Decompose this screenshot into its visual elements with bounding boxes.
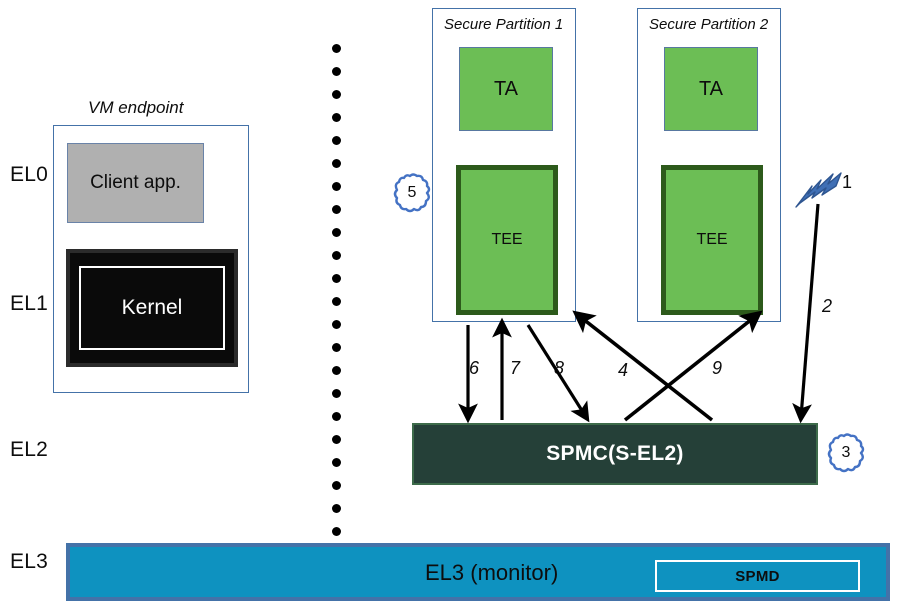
secure-partition-1-box: Secure Partition 1 TA TEE (432, 8, 576, 322)
arrow-label-8: 8 (554, 358, 564, 379)
divider-dot (332, 389, 341, 398)
divider-dot (332, 458, 341, 467)
secure-partition-1-title: Secure Partition 1 (444, 16, 563, 33)
divider-dot (332, 527, 341, 536)
callout-cloud-3-label: 3 (825, 432, 867, 474)
divider-dot (332, 343, 341, 352)
arrow-label-2: 2 (822, 296, 832, 317)
divider-dot (332, 320, 341, 329)
secure-partition-2-box: Secure Partition 2 TA TEE (637, 8, 781, 322)
spmc-label: SPMC(S-EL2) (546, 442, 683, 466)
callout-cloud-3: 3 (825, 432, 867, 474)
divider-dot (332, 274, 341, 283)
secure-partition-2-tee-label: TEE (696, 231, 727, 249)
divider-dot (332, 435, 341, 444)
divider-dot (332, 67, 341, 76)
secure-partition-2-ta-label: TA (699, 78, 723, 101)
arrow-label-7: 7 (510, 358, 520, 379)
secure-world-divider (332, 44, 341, 540)
vm-endpoint-box: Client app. Kernel (53, 125, 249, 393)
exception-level-label-el2: EL2 (10, 438, 48, 462)
arrow-label-6: 6 (469, 358, 479, 379)
divider-dot (332, 228, 341, 237)
kernel-inner-frame: Kernel (79, 266, 225, 350)
arrow-label-4: 4 (618, 360, 628, 381)
divider-dot (332, 159, 341, 168)
divider-dot (332, 182, 341, 191)
secure-partition-1-tee-label: TEE (491, 231, 522, 249)
callout-cloud-5: 5 (391, 172, 433, 214)
divider-dot (332, 90, 341, 99)
vm-endpoint-title: VM endpoint (88, 98, 183, 118)
secure-partition-1-tee-box: TEE (456, 165, 558, 315)
diagram-canvas: EL0 EL1 EL2 EL3 VM endpoint Client app. … (0, 0, 902, 608)
lightning-bolt-icon (796, 173, 841, 207)
secure-partition-2-ta-box: TA (664, 47, 758, 131)
spmc-box: SPMC(S-EL2) (412, 423, 818, 485)
secure-partition-1-ta-box: TA (459, 47, 553, 131)
arrow-9 (625, 315, 757, 420)
divider-dot (332, 136, 341, 145)
divider-dot (332, 504, 341, 513)
el3-monitor-label: EL3 (monitor) (425, 560, 558, 586)
client-app-box: Client app. (67, 143, 204, 223)
secure-partition-2-title: Secure Partition 2 (649, 16, 768, 33)
divider-dot (332, 366, 341, 375)
exception-level-label-el0: EL0 (10, 163, 48, 187)
divider-dot (332, 481, 341, 490)
divider-dot (332, 113, 341, 122)
arrow-2 (801, 204, 818, 417)
kernel-box: Kernel (66, 249, 238, 367)
divider-dot (332, 297, 341, 306)
exception-level-label-el3: EL3 (10, 550, 48, 574)
el3-monitor-box: EL3 (monitor) SPMD (66, 543, 890, 601)
client-app-label: Client app. (90, 172, 181, 194)
spmd-label: SPMD (735, 568, 780, 585)
divider-dot (332, 412, 341, 421)
arrow-4 (578, 315, 712, 420)
divider-dot (332, 205, 341, 214)
spmd-box: SPMD (655, 560, 860, 592)
exception-level-label-el1: EL1 (10, 292, 48, 316)
secure-partition-1-ta-label: TA (494, 78, 518, 101)
kernel-label: Kernel (122, 296, 183, 320)
secure-partition-2-tee-box: TEE (661, 165, 763, 315)
arrow-label-1: 1 (842, 172, 852, 193)
divider-dot (332, 251, 341, 260)
arrow-label-9: 9 (712, 358, 722, 379)
callout-cloud-5-label: 5 (391, 172, 433, 214)
divider-dot (332, 44, 341, 53)
